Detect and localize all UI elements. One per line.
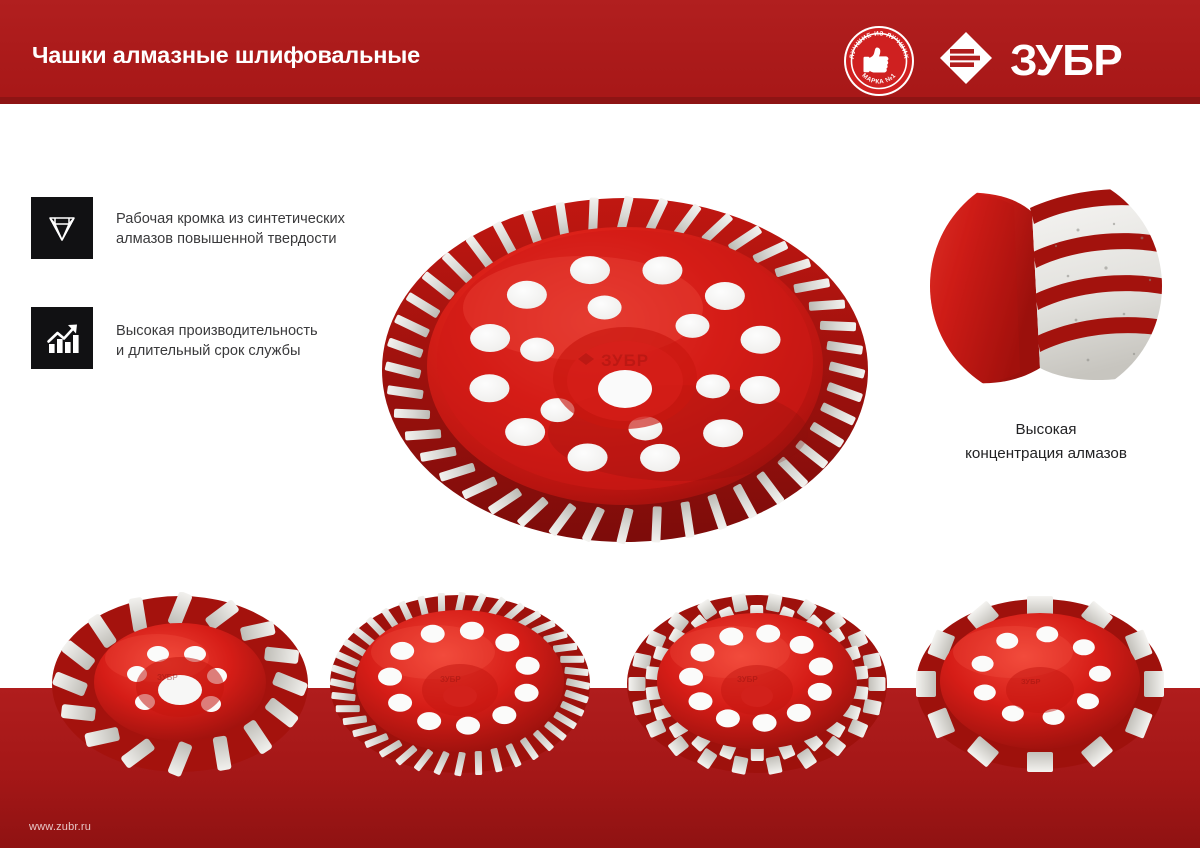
- variant-turbo[interactable]: ЗУБР ТУРБО: [45, 592, 315, 777]
- svg-text:ЗУБР: ЗУБР: [440, 675, 461, 684]
- variant-single-row[interactable]: ЗУБР ОДНОРЯДНАЯ: [905, 592, 1175, 777]
- feature-item-performance: Высокая производительность и длительный …: [31, 307, 318, 369]
- svg-text:ЗУБР: ЗУБР: [737, 675, 758, 684]
- cup-wheel-single-row-image: ЗУБР: [905, 592, 1175, 777]
- cup-wheel-turbo-image: ЗУБР: [45, 592, 315, 777]
- cup-wheel-double-row-image: ЗУБР: [622, 592, 892, 777]
- svg-text:ЗУБР: ЗУБР: [601, 351, 649, 370]
- site-url: www.zubr.ru: [29, 821, 91, 833]
- cup-wheel-turbo-plus-image: ЗУБР: [325, 592, 595, 777]
- svg-text:ЗУБР: ЗУБР: [1021, 677, 1040, 686]
- variant-double-row[interactable]: ЗУБР ДВУХРЯДНАЯ: [622, 592, 892, 777]
- brand-logo: ЗУБР: [938, 30, 1166, 86]
- feature-label: Высокая производительность и длительный …: [116, 307, 318, 361]
- page-title: Чашки алмазные шлифовальные: [32, 42, 420, 69]
- product-banner: Чашки алмазные шлифовальные ЛУЧШИЕ ИЗ ЛУ…: [0, 0, 1200, 848]
- diamond-icon: [31, 197, 93, 259]
- diamond-segment-closeup: [928, 168, 1164, 404]
- growth-chart-icon: [31, 307, 93, 369]
- svg-text:ЗУБР: ЗУБР: [1010, 36, 1122, 85]
- feature-item-diamond-edge: Рабочая кромка из синтетических алмазов …: [31, 197, 345, 259]
- variant-turbo-plus[interactable]: ЗУБР ТУРБО-ПЛЮС: [325, 592, 595, 777]
- feature-label: Рабочая кромка из синтетических алмазов …: [116, 197, 345, 249]
- header-underline: [0, 97, 1200, 104]
- detail-caption: Высокая концентрация алмазов: [900, 418, 1192, 466]
- best-of-the-best-stamp: ЛУЧШИЕ ИЗ ЛУЧШИХ МАРКА №1: [843, 25, 915, 97]
- hero-product-image: ЗУБР: [378, 178, 872, 562]
- svg-text:ЗУБР: ЗУБР: [157, 673, 178, 682]
